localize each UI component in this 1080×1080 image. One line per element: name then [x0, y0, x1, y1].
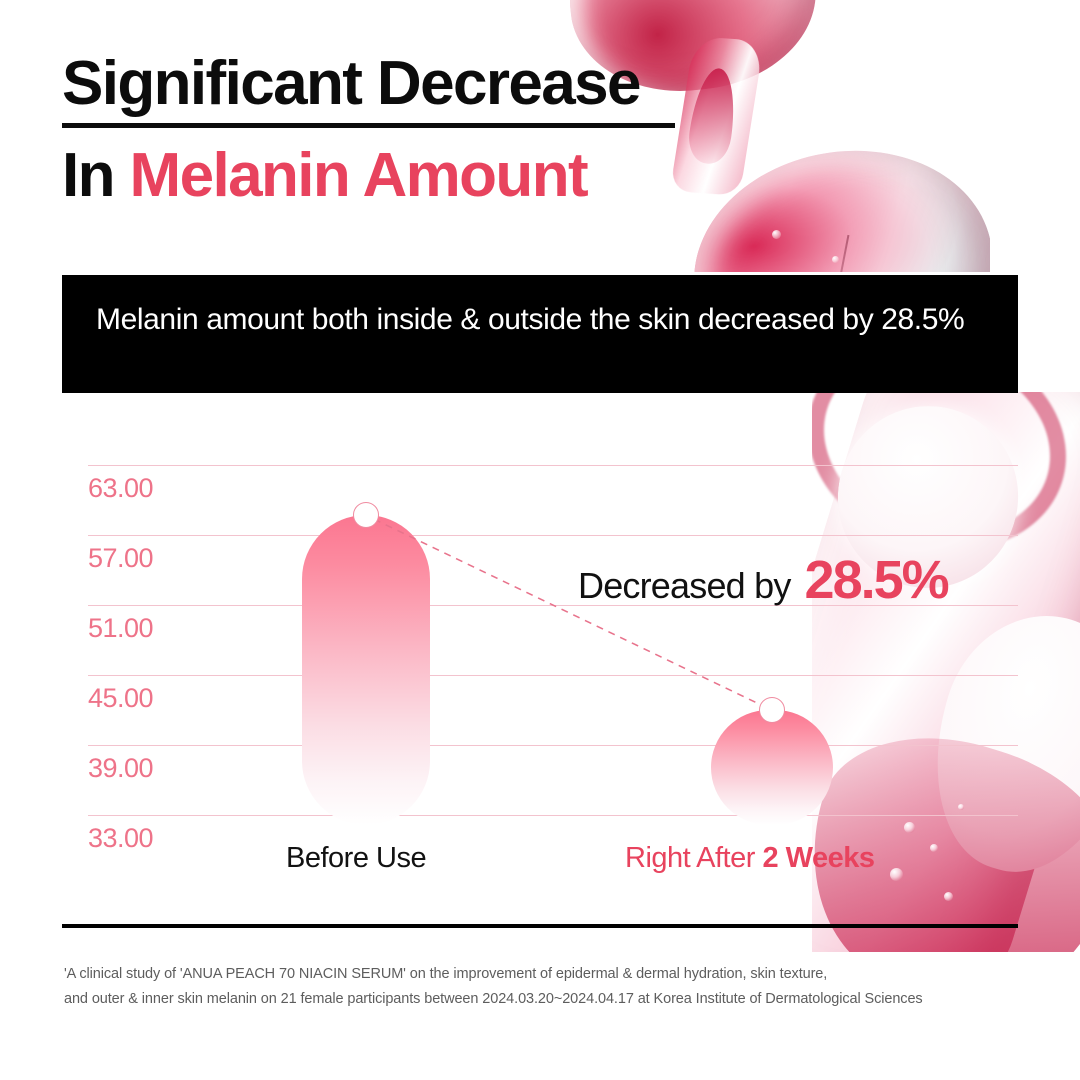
melanin-bar-chart: 63.0057.0051.0045.0039.0033.00 Before Us… [62, 440, 1018, 910]
page-title: Significant Decrease [62, 52, 762, 115]
dashed-trend-line [374, 519, 764, 706]
trend-connector-line [62, 440, 1018, 910]
glass-dome-shape [675, 128, 990, 272]
data-point-marker-1 [353, 502, 379, 528]
infographic-canvas: Significant Decrease In Melanin Amount M… [0, 0, 1080, 1080]
headline-line-2-accent: Melanin Amount [130, 141, 588, 210]
study-footnote: 'A clinical study of 'ANUA PEACH 70 NIAC… [64, 962, 1024, 1012]
x-axis-label-before: Before Use [286, 842, 426, 875]
study-footnote-line-2: and outer & inner skin melanin on 21 fem… [64, 987, 1024, 1012]
glass-seam-line [825, 235, 850, 272]
x-axis-label-after: Right After 2 Weeks [625, 842, 875, 875]
decrease-annotation-value: 28.5% [805, 549, 948, 611]
headline-line-2: In Melanin Amount [62, 140, 587, 211]
serum-dropper-photo [560, 0, 990, 272]
summary-banner: Melanin amount both inside & outside the… [62, 275, 1018, 393]
summary-banner-text: Melanin amount both inside & outside the… [96, 297, 984, 342]
headline-underline [62, 123, 675, 128]
headline-line-1: Significant Decrease [62, 52, 762, 115]
x-axis-label-after-emphasis: 2 Weeks [762, 842, 874, 874]
headline-line-2-prefix: In [62, 141, 130, 210]
decrease-annotation-lead: Decreased by [578, 565, 791, 607]
study-footnote-line-1: 'A clinical study of 'ANUA PEACH 70 NIAC… [64, 962, 1024, 987]
bubble-icon [832, 256, 839, 263]
x-axis-label-after-text: Right After [625, 842, 762, 874]
footer-divider [62, 924, 1018, 928]
decrease-annotation: Decreased by 28.5% [578, 549, 948, 611]
bubble-icon [772, 230, 781, 239]
